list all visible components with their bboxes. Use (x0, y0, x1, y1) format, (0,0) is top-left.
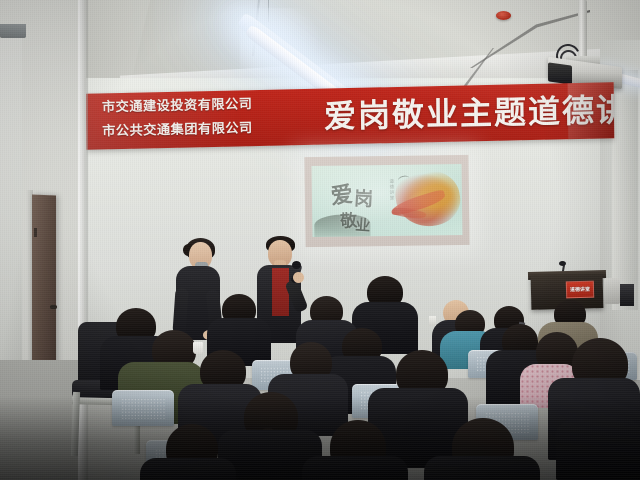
slide-ribbon-artwork-2 (392, 205, 427, 220)
attendee-shoulders (424, 456, 540, 480)
podium-sign: 道德讲堂 (566, 281, 594, 299)
paper-cup (429, 316, 436, 326)
attendee-shoulders (556, 420, 640, 480)
slide-char-3: 敬 (340, 213, 358, 231)
right-wall-column (612, 70, 638, 310)
projector-lens (548, 62, 572, 84)
podium-sign-text: 道德讲堂 (570, 286, 590, 294)
banner-org-line-2: 市公共交通集团有限公司 (102, 116, 316, 145)
microphone-head (292, 261, 301, 269)
light-hanging-wire (268, 0, 269, 22)
window (0, 38, 22, 368)
male-presenter-red-sweater (272, 268, 289, 316)
auditorium-seat[interactable] (112, 390, 174, 426)
podium-microphone-icon (559, 261, 566, 266)
door-hinge (34, 228, 37, 237)
slide-side-text: 道德讲堂 (388, 179, 394, 201)
event-banner: 市交通建设投资有限公司 市公共交通集团有限公司 爱岗敬业主题道德讲堂 (86, 82, 615, 150)
male-presenter-hand (293, 272, 304, 283)
door-handle[interactable] (50, 305, 57, 309)
slide-char-1: 爱 (330, 184, 354, 208)
banner-organization-lines: 市交通建设投资有限公司 市公共交通集团有限公司 (102, 92, 316, 145)
projection-screen: 爱 岗 敬 业 道德讲堂 (304, 155, 469, 247)
slide-bird-artwork (397, 174, 411, 185)
slide-char-4: 业 (355, 218, 371, 234)
slide-landscape-artwork (314, 214, 370, 237)
side-equipment-2 (620, 284, 634, 306)
slide-branch-artwork (312, 167, 380, 194)
paper-cup (193, 342, 203, 354)
slide-figure-artwork (392, 166, 462, 231)
slide-ribbon-artwork (389, 189, 446, 218)
banner-fold-highlight (568, 82, 615, 139)
wooden-door[interactable] (32, 194, 56, 365)
attendee-shoulders (140, 458, 236, 480)
attendee-shoulders (302, 456, 408, 480)
window-blind (0, 24, 26, 38)
smoke-detector-icon (496, 11, 511, 20)
projected-slide: 爱 岗 敬 业 道德讲堂 (312, 164, 463, 237)
photo-scene: 市交通建设投资有限公司 市公共交通集团有限公司 爱岗敬业主题道德讲堂 爱 岗 敬… (0, 0, 640, 480)
slide-char-2: 岗 (353, 190, 373, 210)
side-equipment (604, 278, 620, 304)
